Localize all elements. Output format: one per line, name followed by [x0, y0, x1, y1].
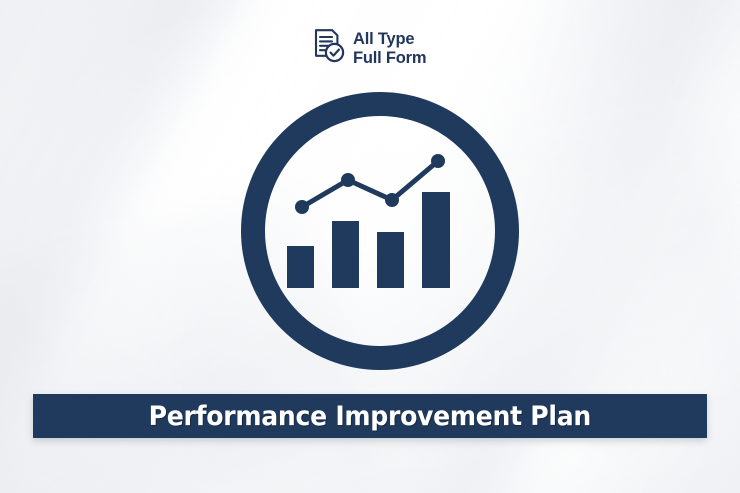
document-check-icon — [313, 28, 347, 69]
brand-line-2: Full Form — [353, 50, 426, 67]
trend-point-4 — [431, 154, 445, 168]
bar-group — [287, 192, 450, 288]
trend-line — [302, 161, 438, 207]
ring-arc-top-left — [253, 104, 380, 231]
bar-1 — [287, 246, 314, 288]
brand-line-1: All Type — [353, 31, 426, 48]
bar-4 — [422, 192, 450, 288]
title-card: All Type Full Form Performance Impr — [0, 0, 740, 493]
bar-3 — [377, 232, 404, 288]
title-banner: Performance Improvement Plan — [33, 394, 707, 438]
trend-point-1 — [295, 200, 309, 214]
banner-title-text: Performance Improvement Plan — [149, 401, 591, 432]
trend-point-3 — [385, 193, 399, 207]
bar-2 — [332, 221, 359, 288]
ring-arc-bottom-left — [253, 231, 380, 358]
brand-wordmark: All Type Full Form — [353, 31, 426, 66]
trend-point-2 — [341, 173, 355, 187]
brand-logo: All Type Full Form — [313, 28, 426, 69]
